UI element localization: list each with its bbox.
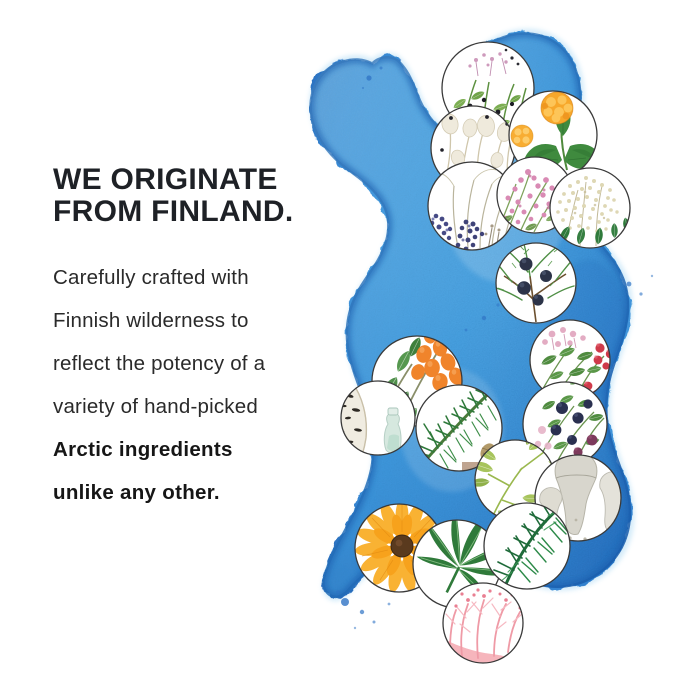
body-line-3: reflect the potency of a [53,342,353,385]
body-line-2: Finnish wilderness to [53,299,353,342]
text-block: WE ORIGINATE FROM FINLAND. Carefully cra… [53,164,353,514]
ingredient-circle-pink-algae-seaweed [443,583,523,670]
body-line-1: Carefully crafted with [53,256,353,299]
body-line-4: variety of hand-picked [53,385,353,428]
body-line-5-emphasis: Arctic ingredients [53,428,353,471]
body-line-6-emphasis: unlike any other. [53,471,353,514]
page-title: WE ORIGINATE FROM FINLAND. [53,164,353,228]
ingredient-circle-meadowsweet [550,168,631,248]
body-copy: Carefully crafted with Finnish wildernes… [53,228,353,514]
marketing-banner: WE ORIGINATE FROM FINLAND. Carefully cra… [0,0,679,679]
headline-line-1: WE ORIGINATE [53,164,353,196]
headline-line-2: FROM FINLAND. [53,196,353,228]
